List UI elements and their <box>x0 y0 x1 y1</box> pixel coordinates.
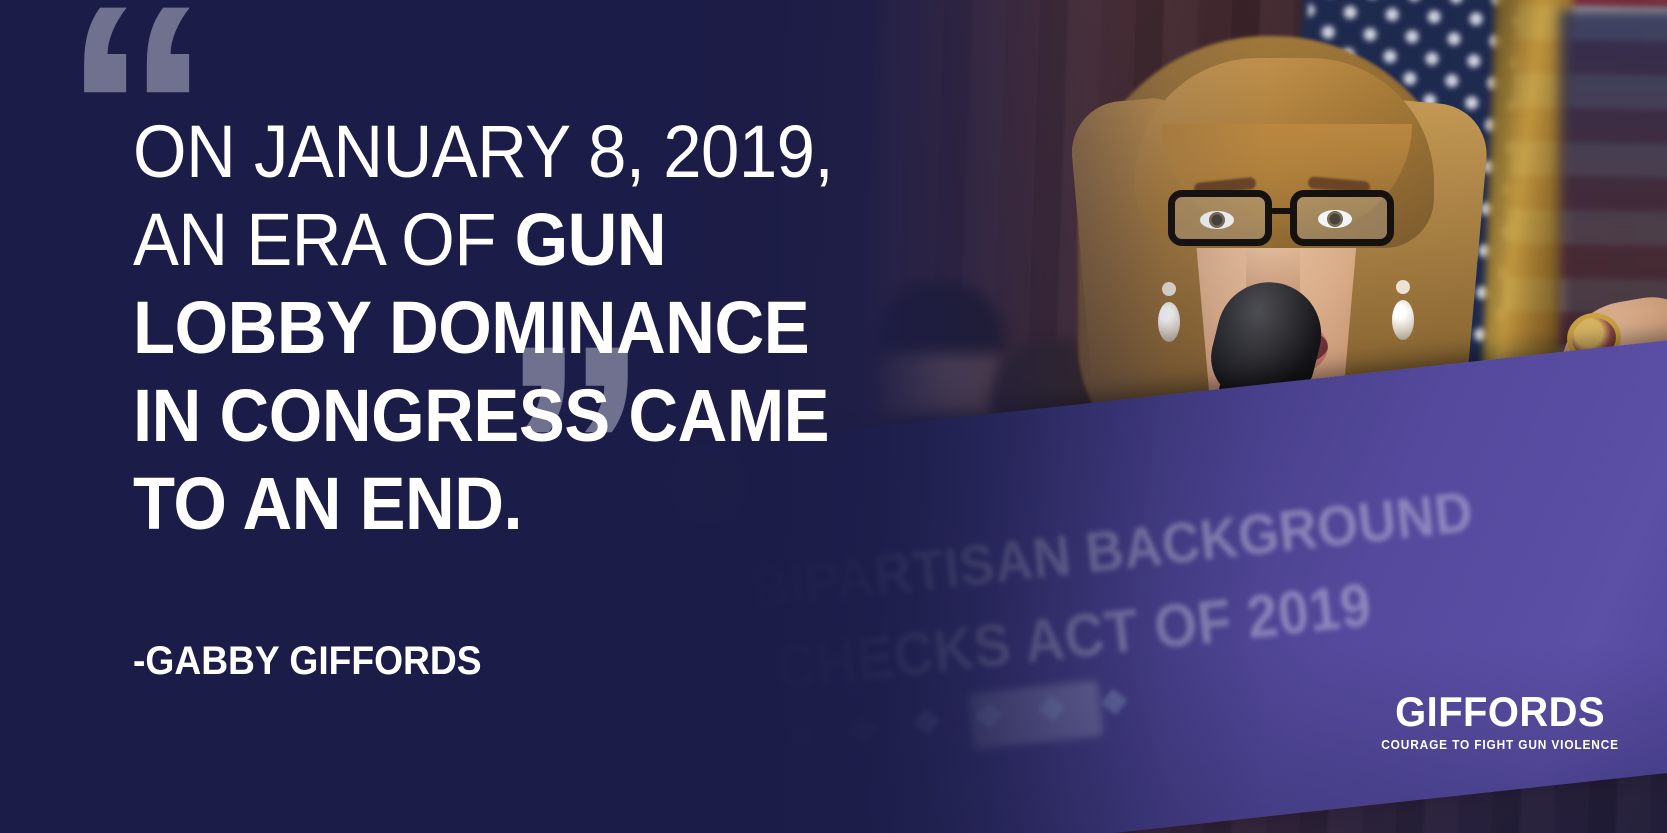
logo-tagline: COURAGE TO FIGHT GUN VIOLENCE <box>1381 739 1619 752</box>
quote-line-5: TO AN END. <box>133 460 933 548</box>
quote-graphic-card: BIPARTISAN BACKGROUND CHECKS ACT OF 2019… <box>0 0 1667 833</box>
quote-line-2-light: AN ERA OF <box>133 198 515 281</box>
content-layer: “ ” ON JANUARY 8, 2019, AN ERA OF GUN LO… <box>0 0 1667 833</box>
quote-line-2-bold: GUN <box>515 198 667 281</box>
quote-text-block: ON JANUARY 8, 2019, AN ERA OF GUN LOBBY … <box>133 108 993 548</box>
quote-line-1: ON JANUARY 8, 2019, <box>133 108 933 196</box>
quote-line-4: IN CONGRESS CAME <box>133 372 933 460</box>
giffords-logo[interactable]: GIFFORDS COURAGE TO FIGHT GUN VIOLENCE <box>1375 691 1625 752</box>
quote-attribution: -GABBY GIFFORDS <box>133 639 482 684</box>
logo-wordmark: GIFFORDS <box>1381 691 1619 733</box>
quote-line-2: AN ERA OF GUN <box>133 196 933 284</box>
quote-line-3: LOBBY DOMINANCE <box>133 284 933 372</box>
